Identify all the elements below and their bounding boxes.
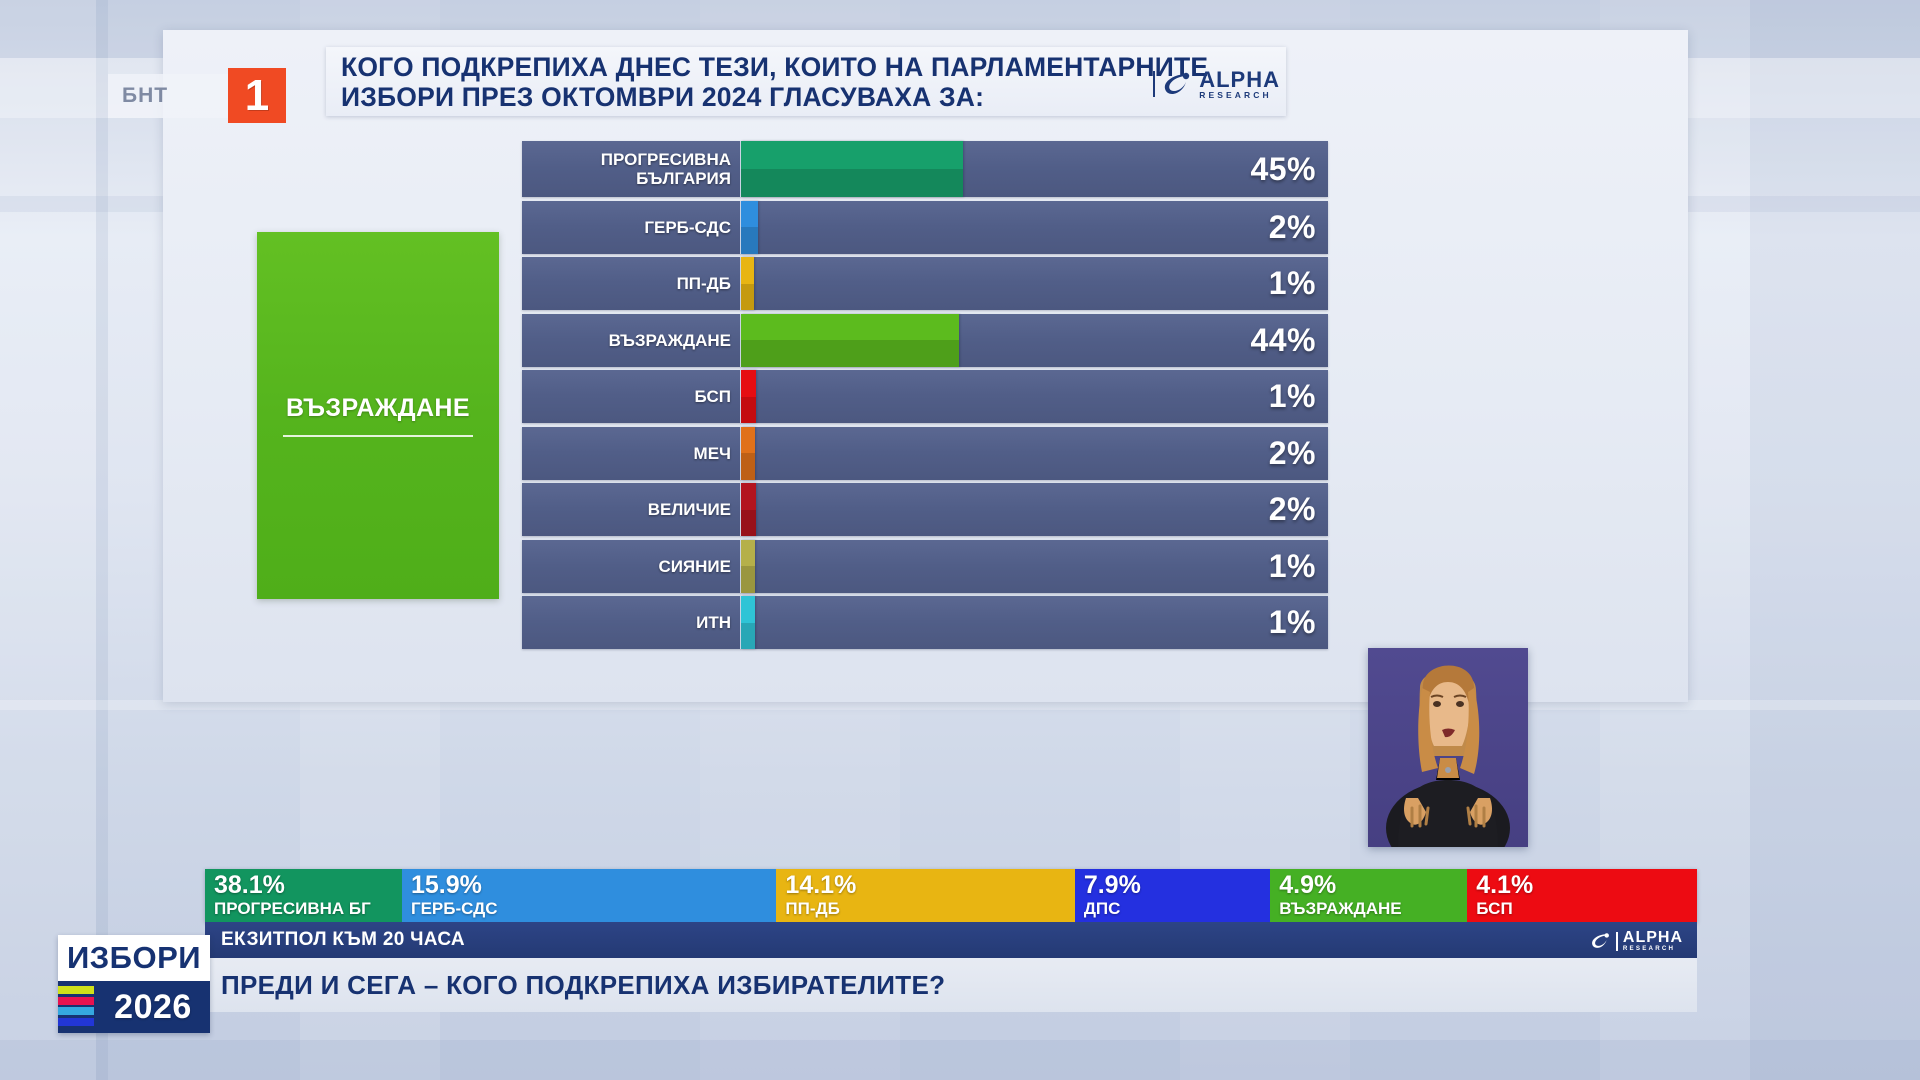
chart-row-value: 1% bbox=[1269, 540, 1316, 593]
election-logo-word-text: ИЗБОРИ bbox=[67, 940, 201, 976]
chart-bar-track: 44% bbox=[741, 314, 1328, 367]
chart-row: ПРОГРЕСИВНАБЪЛГАРИЯ45% bbox=[522, 141, 1328, 197]
chart-row-value: 2% bbox=[1269, 483, 1316, 536]
presenter-figure bbox=[1368, 648, 1528, 847]
ticker-party-name: ПРОГРЕСИВНА БГ bbox=[214, 898, 402, 919]
chart-row-value: 1% bbox=[1269, 257, 1316, 310]
chart-row: МЕЧ2% bbox=[522, 427, 1328, 480]
chart-row-label-line: МЕЧ bbox=[694, 444, 731, 463]
page-title: КОГО ПОДКРЕПИХА ДНЕС ТЕЗИ, КОИТО НА ПАРЛ… bbox=[326, 52, 1286, 112]
chart-row-value: 44% bbox=[1250, 314, 1316, 367]
lower-third-kicker-band: ЕКЗИТПОЛ КЪМ 20 ЧАСА ALPHA RESEARCH bbox=[205, 922, 1697, 958]
ticker-segment: 4.9%ВЪЗРАЖДАНЕ bbox=[1270, 869, 1467, 922]
chart-row-label-line: ИТН bbox=[696, 613, 731, 632]
ticker-percent: 15.9% bbox=[411, 873, 776, 898]
alpha-word-secondary-small: RESEARCH bbox=[1623, 946, 1683, 952]
chart-bar-bottom bbox=[741, 284, 754, 311]
ticker-percent: 4.1% bbox=[1476, 873, 1697, 898]
chart-row-label-line: ВЪЗРАЖДАНЕ bbox=[609, 331, 731, 350]
chart-row-label-line: СИЯНИЕ bbox=[658, 557, 731, 576]
chart-row-value: 2% bbox=[1269, 427, 1316, 480]
alpha-glyph-icon-small bbox=[1590, 932, 1611, 950]
chart-bar bbox=[741, 596, 755, 649]
election-logo-stripe bbox=[58, 997, 94, 1005]
election-logo-stripe bbox=[58, 1018, 94, 1026]
results-ticker-strip: 38.1%ПРОГРЕСИВНА БГ15.9%ГЕРБ-СДС14.1%ПП-… bbox=[205, 869, 1697, 922]
alpha-wordmark-small: ALPHA RESEARCH bbox=[1623, 930, 1683, 952]
selected-party-panel: ВЪЗРАЖДАНЕ bbox=[257, 232, 499, 599]
bnt-channel-number: 1 bbox=[228, 68, 286, 123]
chart-bar-top bbox=[741, 596, 755, 623]
chart-row-label: ПП-ДБ bbox=[522, 257, 741, 310]
chart-row: ПП-ДБ1% bbox=[522, 257, 1328, 310]
results-bar-chart: ПРОГРЕСИВНАБЪЛГАРИЯ45%ГЕРБ-СДС2%ПП-ДБ1%В… bbox=[522, 141, 1328, 653]
chart-row-value: 45% bbox=[1250, 141, 1316, 197]
alpha-wordmark: ALPHA RESEARCH bbox=[1199, 69, 1280, 100]
ticker-percent: 4.9% bbox=[1279, 873, 1467, 898]
ticker-segment: 7.9%ДПС bbox=[1075, 869, 1270, 922]
chart-row-label-line: ПП-ДБ bbox=[677, 274, 731, 293]
chart-bar-track: 1% bbox=[741, 370, 1328, 423]
bnt-logo: БНТ 1 bbox=[108, 68, 286, 123]
ticker-segment: 38.1%ПРОГРЕСИВНА БГ bbox=[205, 869, 402, 922]
election-logo-year: 2026 bbox=[96, 981, 210, 1033]
chart-bar-track: 2% bbox=[741, 483, 1328, 536]
presenter-video-inset bbox=[1368, 648, 1528, 847]
chart-bar-bottom bbox=[741, 623, 755, 650]
chart-bar bbox=[741, 201, 758, 254]
chart-bar bbox=[741, 483, 756, 536]
ticker-party-name: ДПС bbox=[1084, 898, 1270, 919]
ticker-party-name: ПП-ДБ bbox=[785, 898, 1074, 919]
chart-row-label-line: ГЕРБ-СДС bbox=[644, 218, 731, 237]
chart-bar bbox=[741, 314, 959, 367]
chart-row-label-line: ВЕЛИЧИЕ bbox=[648, 500, 731, 519]
alpha-glyph-icon bbox=[1162, 71, 1192, 97]
ticker-percent: 7.9% bbox=[1084, 873, 1270, 898]
election-logo: ИЗБОРИ 2026 bbox=[58, 935, 210, 1033]
chart-bar-track: 1% bbox=[741, 596, 1328, 649]
chart-bar-bottom bbox=[741, 510, 756, 537]
election-logo-year-row: 2026 bbox=[58, 981, 210, 1033]
selected-party-label: ВЪЗРАЖДАНЕ bbox=[286, 394, 470, 423]
selected-party-underline bbox=[283, 435, 473, 437]
lower-third-headline: ПРЕДИ И СЕГА – КОГО ПОДКРЕПИХА ИЗБИРАТЕЛ… bbox=[205, 970, 945, 1001]
lower-third-kicker: ЕКЗИТПОЛ КЪМ 20 ЧАСА bbox=[205, 929, 465, 951]
ticker-percent: 14.1% bbox=[785, 873, 1074, 898]
chart-row: ВЕЛИЧИЕ2% bbox=[522, 483, 1328, 536]
chart-row: ИТН1% bbox=[522, 596, 1328, 649]
bnt-wordmark: БНТ bbox=[108, 74, 228, 118]
chart-row-label: ИТН bbox=[522, 596, 741, 649]
logo-divider-small bbox=[1616, 932, 1618, 951]
chart-bar bbox=[741, 540, 755, 593]
chart-bar bbox=[741, 257, 754, 310]
chart-bar-bottom bbox=[741, 169, 963, 197]
election-logo-word: ИЗБОРИ bbox=[58, 935, 210, 981]
chart-row-label: БСП bbox=[522, 370, 741, 423]
chart-row-label: ВЕЛИЧИЕ bbox=[522, 483, 741, 536]
chart-bar-track: 2% bbox=[741, 201, 1328, 254]
chart-bar-track: 45% bbox=[741, 141, 1328, 197]
chart-row-label-line: БЪЛГАРИЯ bbox=[636, 169, 731, 188]
chart-row-value: 1% bbox=[1269, 370, 1316, 423]
alpha-word-secondary: RESEARCH bbox=[1199, 91, 1280, 100]
chart-row-label: СИЯНИЕ bbox=[522, 540, 741, 593]
election-logo-stripe bbox=[58, 986, 94, 994]
lower-third-headline-band: ПРЕДИ И СЕГА – КОГО ПОДКРЕПИХА ИЗБИРАТЕЛ… bbox=[205, 958, 1697, 1012]
chart-row-value: 1% bbox=[1269, 596, 1316, 649]
chart-row-value: 2% bbox=[1269, 201, 1316, 254]
chart-bar-bottom bbox=[741, 453, 755, 480]
chart-row-label: ПРОГРЕСИВНАБЪЛГАРИЯ bbox=[522, 141, 741, 197]
chart-bar-track: 1% bbox=[741, 257, 1328, 310]
ticker-segment: 15.9%ГЕРБ-СДС bbox=[402, 869, 776, 922]
chart-bar-top bbox=[741, 483, 756, 510]
chart-row-label-line: ПРОГРЕСИВНА bbox=[601, 150, 731, 169]
chart-bar bbox=[741, 427, 755, 480]
chart-bar-track: 2% bbox=[741, 427, 1328, 480]
chart-bar-top bbox=[741, 201, 758, 228]
alpha-research-logo-bottom: ALPHA RESEARCH bbox=[1590, 930, 1683, 952]
title-strip: КОГО ПОДКРЕПИХА ДНЕС ТЕЗИ, КОИТО НА ПАРЛ… bbox=[326, 47, 1286, 116]
chart-bar bbox=[741, 141, 963, 197]
ticker-segment: 14.1%ПП-ДБ bbox=[776, 869, 1074, 922]
chart-bar-bottom bbox=[741, 397, 756, 424]
chart-row-label-line: БСП bbox=[695, 387, 732, 406]
chart-bar-track: 1% bbox=[741, 540, 1328, 593]
chart-bar bbox=[741, 370, 756, 423]
chart-bar-top bbox=[741, 427, 755, 454]
chart-row-label: ВЪЗРАЖДАНЕ bbox=[522, 314, 741, 367]
chart-bar-top bbox=[741, 141, 963, 169]
chart-row: СИЯНИЕ1% bbox=[522, 540, 1328, 593]
chart-row: ВЪЗРАЖДАНЕ44% bbox=[522, 314, 1328, 367]
alpha-word-primary: ALPHA bbox=[1199, 69, 1280, 91]
alpha-research-logo-top: ALPHA RESEARCH bbox=[1153, 69, 1280, 100]
election-logo-stripes bbox=[58, 981, 96, 1033]
election-logo-year-text: 2026 bbox=[114, 988, 192, 1027]
chart-bar-top bbox=[741, 314, 959, 341]
chart-bar-bottom bbox=[741, 340, 959, 367]
logo-divider bbox=[1153, 71, 1155, 97]
chart-row-label: МЕЧ bbox=[522, 427, 741, 480]
chart-row-label: ГЕРБ-СДС bbox=[522, 201, 741, 254]
ticker-party-name: ГЕРБ-СДС bbox=[411, 898, 776, 919]
election-logo-stripe bbox=[58, 1007, 94, 1015]
ticker-party-name: БСП bbox=[1476, 898, 1697, 919]
chart-bar-bottom bbox=[741, 227, 758, 254]
ticker-party-name: ВЪЗРАЖДАНЕ bbox=[1279, 898, 1467, 919]
chart-bar-bottom bbox=[741, 566, 755, 593]
ticker-segment: 4.1%БСП bbox=[1467, 869, 1697, 922]
chart-bar-top bbox=[741, 540, 755, 567]
chart-bar-top bbox=[741, 257, 754, 284]
chart-row: ГЕРБ-СДС2% bbox=[522, 201, 1328, 254]
ticker-percent: 38.1% bbox=[214, 873, 402, 898]
chart-bar-top bbox=[741, 370, 756, 397]
chart-row: БСП1% bbox=[522, 370, 1328, 423]
alpha-word-primary-small: ALPHA bbox=[1623, 930, 1683, 946]
